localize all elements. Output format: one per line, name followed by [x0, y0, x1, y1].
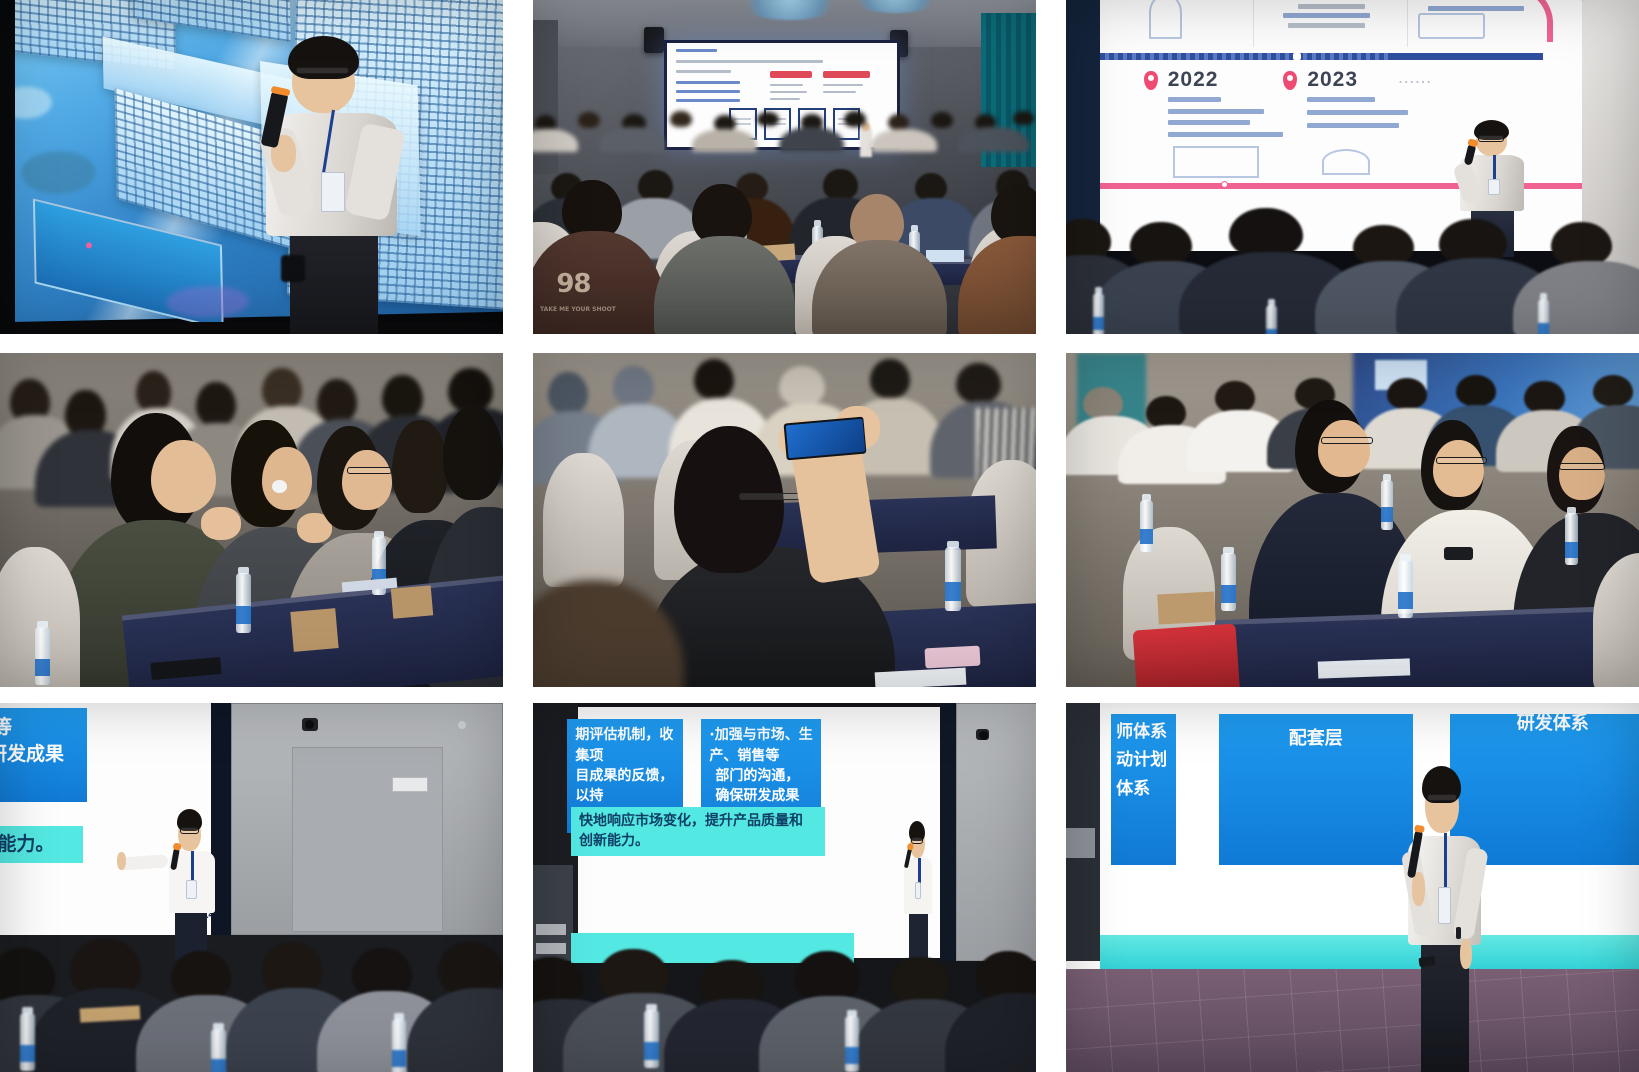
- photo-7-image: 、销售等 确保研发成果 求。 和创新能力。 14: [0, 703, 503, 1072]
- water-bottle: [1565, 513, 1578, 565]
- water-bottle: [1381, 480, 1393, 530]
- camera-icon: [302, 718, 318, 731]
- photo-tile-2[interactable]: 98 TAKE ME YOUR SHOOT: [533, 0, 1036, 334]
- gift-box: [391, 585, 434, 618]
- water-bottle: [236, 573, 251, 633]
- projection-slide-8: 期评估机制，收集项 目成果的反馈，以持 研发过程。 ·加强与市场、生产、销售等 …: [578, 707, 940, 958]
- water-bottle: [945, 547, 961, 611]
- photo-5-image: [533, 353, 1036, 687]
- smartphone[interactable]: [783, 416, 866, 460]
- gift-box: [1157, 592, 1216, 625]
- camera-icon: [976, 729, 989, 740]
- photo-tile-1[interactable]: [0, 0, 503, 334]
- water-bottle: [1398, 560, 1413, 618]
- architecture-slide-9: 师体系 动计划 体系 配套层 研发体系: [1100, 707, 1639, 936]
- timeline-year-2022: 2022: [1168, 68, 1219, 92]
- water-bottle: [1221, 553, 1236, 611]
- photo-tile-8[interactable]: 期评估机制，收集项 目成果的反馈，以持 研发过程。 ·加强与市场、生产、销售等 …: [533, 703, 1036, 1072]
- audience-crowd-3: [1066, 187, 1639, 334]
- timeline-pin-2022: [1144, 71, 1158, 90]
- photo-4-image: [0, 353, 503, 687]
- photo-collage-grid: 98 TAKE ME YOUR SHOOT: [0, 0, 1639, 1072]
- wall-sign: [392, 777, 427, 792]
- photo-tile-6[interactable]: [1066, 353, 1639, 687]
- smartwatch: [1444, 547, 1473, 560]
- water-bottle: [35, 627, 50, 685]
- gift-box: [290, 608, 339, 652]
- diagram-center-box: 配套层: [1219, 714, 1413, 865]
- photo-tile-9[interactable]: 师体系 动计划 体系 配套层 研发体系: [1066, 703, 1639, 1072]
- photo-8-image: 期评估机制，收集项 目成果的反馈，以持 研发过程。 ·加强与市场、生产、销售等 …: [533, 703, 1036, 1072]
- photo-6-image: [1066, 353, 1639, 687]
- speaker-figure-9: [1387, 769, 1502, 1072]
- water-bottle: [1140, 500, 1153, 552]
- speaker-figure-1: [226, 33, 437, 334]
- audience-crowd-8: [533, 932, 1036, 1072]
- photo-1-image: [0, 0, 503, 334]
- diagram-center-label: 配套层: [1219, 724, 1413, 750]
- photo-tile-4[interactable]: [0, 353, 503, 687]
- photo-3-image: 2022 2023 ......: [1066, 0, 1639, 334]
- red-jacket: [1132, 623, 1240, 687]
- audience-crowd-7: [0, 917, 503, 1072]
- diagram-right-label: 研发体系: [1450, 709, 1639, 735]
- smartwatch: [1456, 927, 1462, 939]
- handout-paper: [875, 668, 966, 687]
- photo-tile-7[interactable]: 、销售等 确保研发成果 求。 和创新能力。 14: [0, 703, 503, 1072]
- photo-tile-3[interactable]: 2022 2023 ......: [1066, 0, 1639, 334]
- timeline-ellipsis: ......: [1399, 71, 1433, 86]
- timeline-year-2023: 2023: [1307, 68, 1358, 92]
- slide-cyan-textbox: 快地响应市场变化，提升产品质量和创新能力。: [571, 807, 825, 856]
- jacket-slogan-label: TAKE ME YOUR SHOOT: [540, 306, 660, 313]
- diagram-left-box: 师体系 动计划 体系: [1111, 714, 1176, 865]
- photo-9-image: 师体系 动计划 体系 配套层 研发体系: [1066, 703, 1639, 1072]
- audience-crowd-2: 98 TAKE ME YOUR SHOOT: [533, 100, 1036, 334]
- photo-2-image: 98 TAKE ME YOUR SHOOT: [533, 0, 1036, 334]
- earbud-icon: [272, 480, 287, 493]
- photo-tile-5[interactable]: [533, 353, 1036, 687]
- power-bank: [925, 645, 981, 668]
- jacket-number-label: 98: [556, 269, 637, 302]
